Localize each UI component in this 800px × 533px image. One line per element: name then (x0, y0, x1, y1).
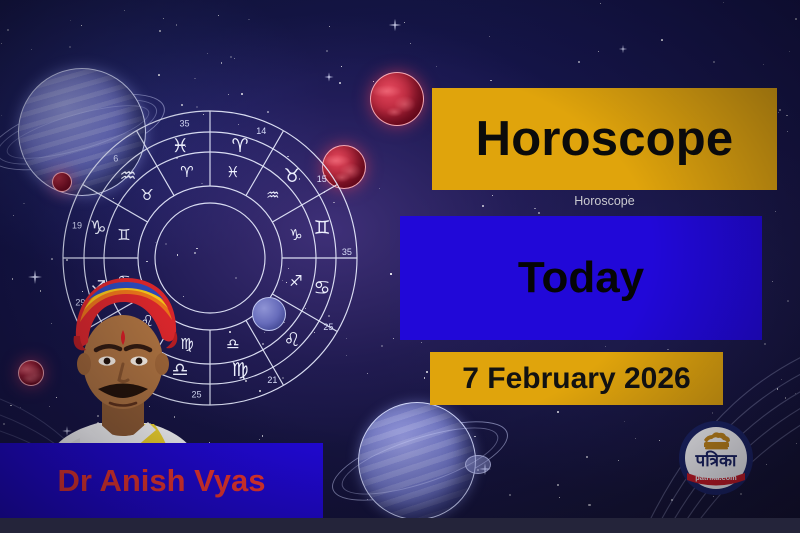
vignette-overlay (0, 0, 800, 533)
thumbnail-canvas: ♈♉♊♋♌♍♎♏♐♑♒♓ ♓♒♑♐♏♎♍♌♋♊♉♈ 14153525212526… (0, 0, 800, 533)
bottom-letterbox-bar (0, 518, 800, 533)
